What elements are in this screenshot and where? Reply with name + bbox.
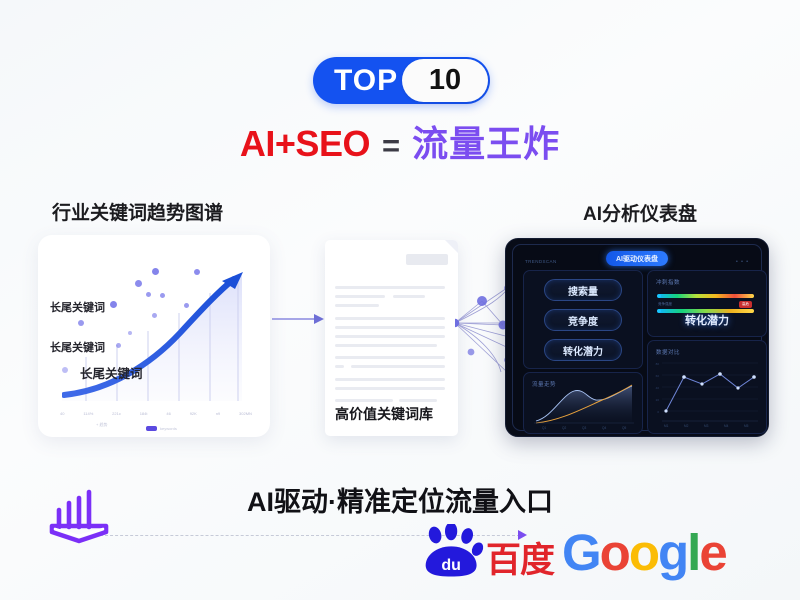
baidu-mark-text: du: [441, 556, 461, 574]
index-gauge-panel: 冲刺指数 竞争强度 高危 转化潜力: [647, 270, 767, 337]
gauge-panel-heading: 冲刺指数: [656, 278, 680, 286]
dashboard-brand: TRENDSCAN: [525, 259, 557, 264]
graph-node: [78, 320, 84, 326]
google-letter: e: [699, 527, 725, 578]
headline-purple: 流量王炸: [412, 123, 560, 164]
axis-tick: 114%: [83, 411, 93, 419]
gauge-bar-primary: [658, 294, 754, 298]
doc-text-line: [335, 295, 385, 298]
gauge-marker-icon: [657, 294, 661, 298]
google-letter: g: [658, 527, 687, 578]
graph-node: [116, 343, 121, 348]
doc-text-line: [335, 326, 445, 329]
doc-text-line: [335, 344, 437, 347]
top-rank-badge: TOP 10: [313, 57, 490, 104]
doc-text-line: [335, 378, 445, 381]
svg-text:60: 60: [656, 374, 660, 378]
footer-tagline: AI驱动·精准定位流量入口: [0, 480, 800, 519]
keyword-trend-card: 长尾关键词 长尾关键词 长尾关键词 40 114% 221c 184t 46 9…: [38, 235, 270, 437]
axis-tick: 184t: [140, 411, 148, 419]
headline-red: AI+SEO: [240, 123, 370, 164]
right-section-caption: AI分析仪表盘: [583, 199, 697, 226]
trend-x-axis: 40 114% 221c 184t 46 92K n9 302MN: [60, 411, 252, 419]
graph-node: [152, 268, 159, 275]
trend-label-1: 长尾关键词: [50, 299, 105, 315]
doc-text-line: [335, 356, 445, 359]
left-section-caption: 行业关键词趋势图谱: [52, 198, 223, 225]
legend-swatch: [146, 426, 157, 431]
baidu-paw-icon: du: [420, 524, 486, 580]
baidu-logo: du 百度: [420, 524, 554, 580]
doc-header-block: [406, 254, 448, 265]
trend-legend: keywords: [146, 426, 177, 431]
axis-tick: 46: [166, 411, 170, 419]
doc-text-line: [399, 399, 437, 402]
area-chart-svg: Q1Q2 Q3Q4 Q5: [524, 373, 642, 433]
svg-text:M5: M5: [744, 424, 749, 428]
doc-folded-corner: [445, 240, 458, 253]
graph-node: [152, 313, 157, 318]
svg-text:M2: M2: [684, 424, 689, 428]
flow-arrow-icon: [272, 312, 324, 326]
svg-text:0: 0: [657, 410, 659, 414]
doc-text-line: [335, 335, 445, 338]
axis-tick: 221c: [112, 411, 121, 419]
graph-node: [128, 331, 132, 335]
slide-canvas: TOP 10 AI+SEO=流量王炸 行业关键词趋势图谱 AI分析仪表盘: [0, 0, 800, 600]
data-comparison-panel: 数据对比: [647, 340, 767, 434]
dashboard-title: AI驱动仪表盘: [606, 251, 668, 266]
legend-label: keywords: [160, 426, 177, 431]
gauge-big-label: 转化潜力: [685, 312, 729, 328]
gauge-marker-icon: [657, 309, 661, 313]
metric-pill-conversion[interactable]: 转化潜力: [544, 339, 622, 361]
search-engine-logos: du 百度 G o o g l e: [420, 524, 726, 580]
trend-x-axis-label: + 趋势: [96, 422, 107, 428]
axis-tick: n9: [216, 411, 220, 419]
graph-node: [184, 303, 189, 308]
bar-chart-icon: [46, 484, 112, 546]
svg-text:Q4: Q4: [602, 426, 606, 430]
metric-pill-competition[interactable]: 竞争度: [544, 309, 622, 331]
baidu-wordmark: 百度: [486, 543, 554, 578]
line-chart-svg: M1M2 M3M4 M5 8060 4020 0: [648, 341, 766, 433]
svg-text:Q1: Q1: [542, 426, 546, 430]
doc-text-line: [351, 365, 445, 368]
axis-tick: 302MN: [239, 411, 252, 419]
graph-node: [110, 301, 117, 308]
doc-text-line: [335, 387, 445, 390]
google-letter: l: [687, 527, 699, 578]
google-letter: o: [600, 527, 629, 578]
badge-top-label: TOP: [334, 66, 398, 96]
graph-node: [62, 367, 68, 373]
svg-text:40: 40: [656, 386, 660, 390]
svg-text:Q5: Q5: [622, 426, 626, 430]
trend-chart: 长尾关键词 长尾关键词 长尾关键词 40 114% 221c 184t 46 9…: [38, 235, 270, 437]
graph-node: [160, 293, 165, 298]
doc-text-line: [335, 365, 344, 368]
keyword-library-card: 高价值关键词库: [325, 240, 458, 436]
headline-equals: =: [382, 128, 400, 163]
google-logo: G o o g l e: [562, 527, 726, 578]
graph-node: [146, 292, 151, 297]
metrics-panel: 搜索量 竞争度 转化潜力: [523, 270, 643, 369]
svg-text:M4: M4: [724, 424, 729, 428]
dashboard-menu-icon[interactable]: • • •: [736, 259, 749, 265]
svg-text:80: 80: [656, 362, 660, 366]
axis-tick: 92K: [190, 411, 197, 419]
graph-node: [194, 269, 200, 275]
svg-text:M3: M3: [704, 424, 709, 428]
trend-label-2: 长尾关键词: [50, 339, 105, 355]
doc-text-line: [393, 295, 425, 298]
gauge-sub-label: 竞争强度: [658, 302, 672, 307]
traffic-trend-panel: 流量走势 Q1Q2 Q3Q4: [523, 372, 643, 434]
metric-pill-search-volume[interactable]: 搜索量: [544, 279, 622, 301]
doc-text-line: [335, 304, 379, 307]
doc-caption: 高价值关键词库: [335, 404, 433, 424]
ai-dashboard: AI驱动仪表盘 TRENDSCAN • • • 搜索量 竞争度 转化潜力 流量走…: [505, 238, 769, 437]
badge-number-circle: 10: [402, 59, 488, 102]
svg-text:Q3: Q3: [582, 426, 586, 430]
graph-node: [135, 280, 142, 287]
trend-label-3: 长尾关键词: [80, 363, 143, 382]
doc-text-line: [335, 317, 445, 320]
gauge-status-badge: 高危: [739, 301, 752, 308]
svg-text:M1: M1: [664, 424, 669, 428]
svg-text:20: 20: [656, 398, 660, 402]
axis-tick: 40: [60, 411, 64, 419]
badge-number: 10: [429, 66, 461, 95]
doc-text-line: [335, 286, 445, 289]
doc-text-line: [335, 399, 393, 402]
dashboard-frame: AI驱动仪表盘 TRENDSCAN • • • 搜索量 竞争度 转化潜力 流量走…: [512, 244, 762, 431]
svg-text:Q2: Q2: [562, 426, 566, 430]
page-title: AI+SEO=流量王炸: [0, 126, 800, 162]
google-letter: o: [629, 527, 658, 578]
google-letter: G: [562, 527, 600, 578]
